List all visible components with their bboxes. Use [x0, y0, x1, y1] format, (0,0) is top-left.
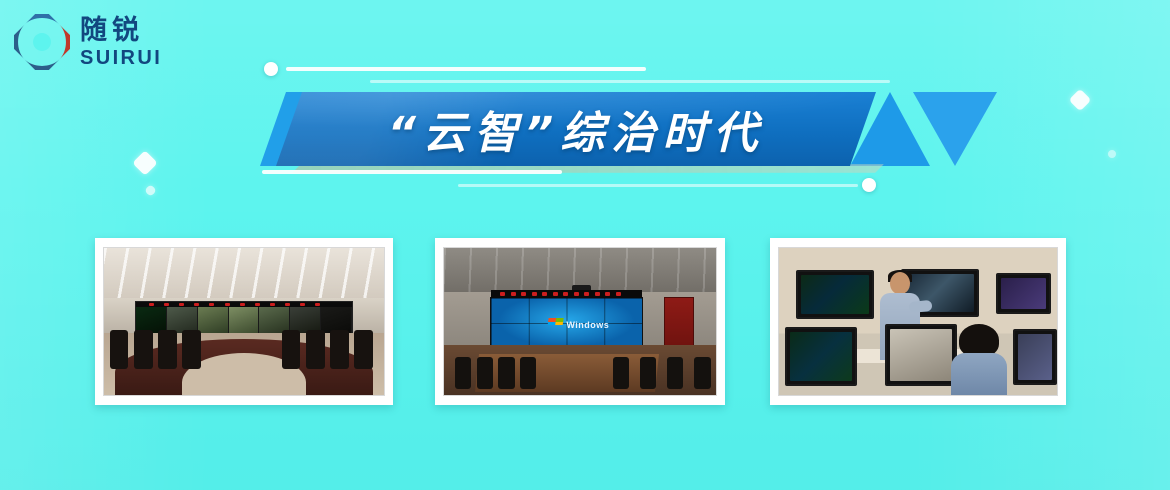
banner-rule-top-2	[370, 80, 890, 83]
diamond-top-right-icon	[1069, 89, 1092, 112]
wall-monitor-1	[796, 270, 874, 319]
diamond-left-mid-icon	[132, 150, 157, 175]
dot-banner-top-left	[264, 62, 278, 76]
diamond-right-lower-icon	[1106, 148, 1117, 159]
scene-monitoring-station	[779, 248, 1057, 395]
card-frame: Windows	[435, 238, 725, 405]
banner-rule-bottom-1	[262, 170, 562, 174]
card-village[interactable]	[770, 238, 1066, 405]
card-image-village	[778, 247, 1058, 396]
desk-monitor-left	[785, 327, 857, 386]
banner-rule-bottom-2	[458, 184, 858, 187]
brand-logo[interactable]: 随锐 SUIRUI	[14, 14, 162, 70]
page-title: “云智”综治时代	[276, 92, 876, 166]
windows-wordmark: Windows	[566, 320, 609, 330]
card-frame	[95, 238, 393, 405]
brand-name-cn: 随锐	[80, 17, 162, 44]
title-banner: “云智”综治时代	[258, 58, 948, 198]
desk-monitor-center	[885, 324, 957, 386]
pinwheel-diamond-logo-icon	[14, 14, 70, 70]
scene-meeting-room: Windows	[444, 248, 716, 395]
dot-banner-bottom-right	[862, 178, 876, 192]
scene-conference-room	[104, 248, 384, 395]
card-street-township[interactable]: Windows	[435, 238, 725, 405]
card-frame	[770, 238, 1066, 405]
desk-monitor-right	[1013, 329, 1057, 385]
banner-rule-top-1	[286, 67, 646, 71]
brand-text: 随锐 SUIRUI	[80, 17, 162, 68]
diamond-left-lower-icon	[144, 184, 157, 197]
card-city-district[interactable]	[95, 238, 393, 405]
wall-monitor-3	[996, 273, 1052, 314]
card-image-city-district	[103, 247, 385, 396]
seated-person-figure	[951, 324, 1007, 395]
card-image-street-township: Windows	[443, 247, 717, 396]
triangle-down-icon	[913, 92, 997, 166]
brand-name-en: SUIRUI	[80, 48, 162, 68]
windows-logo-icon	[548, 318, 564, 327]
